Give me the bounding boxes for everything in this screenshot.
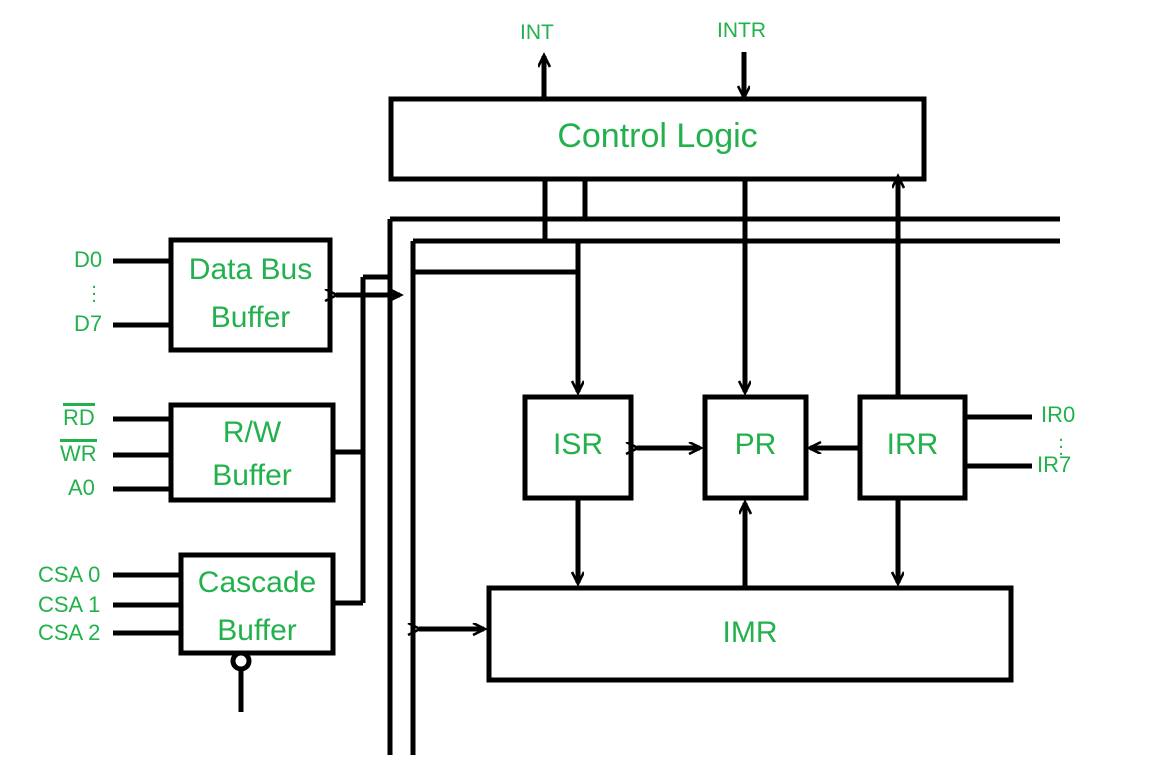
d0-label: D0 xyxy=(74,249,102,271)
pr-label: PR xyxy=(705,430,806,460)
data-bus-buffer-label-line1: Data Bus xyxy=(171,255,330,285)
rd-overline-text: RD xyxy=(63,407,95,429)
wr-label: WR xyxy=(60,443,97,465)
data-bus-buffer-label-line2: Buffer xyxy=(171,303,330,333)
wr-overline-text: WR xyxy=(60,443,97,465)
d7-label: D7 xyxy=(74,313,102,335)
rd-label: RD xyxy=(63,407,95,429)
csa2-label: CSA 2 xyxy=(38,622,100,644)
rw-buffer-label-line1: R/W xyxy=(171,418,333,448)
isr-label: ISR xyxy=(525,430,631,460)
cascade-bubble-icon xyxy=(233,653,249,669)
block-diagram-canvas: Control Logic Data Bus Buffer R/W Buffer… xyxy=(0,0,1160,759)
ir-ellipsis: ... xyxy=(1041,432,1081,453)
csa0-label: CSA 0 xyxy=(38,564,100,586)
cascade-buffer-label-line1: Cascade xyxy=(181,568,333,598)
ir0-label: IR0 xyxy=(1041,404,1075,426)
csa1-label: CSA 1 xyxy=(38,594,100,616)
int-label: INT xyxy=(520,22,554,43)
a0-label: A0 xyxy=(68,477,95,499)
rw-buffer-label-line2: Buffer xyxy=(171,461,333,491)
data-ellipsis: ... xyxy=(74,279,114,300)
intr-label: INTR xyxy=(717,20,766,41)
irr-label: IRR xyxy=(860,430,965,460)
imr-label: IMR xyxy=(489,618,1011,648)
cascade-buffer-label-line2: Buffer xyxy=(181,616,333,646)
control-logic-label: Control Logic xyxy=(391,119,924,153)
ir7-label: IR7 xyxy=(1037,454,1071,476)
